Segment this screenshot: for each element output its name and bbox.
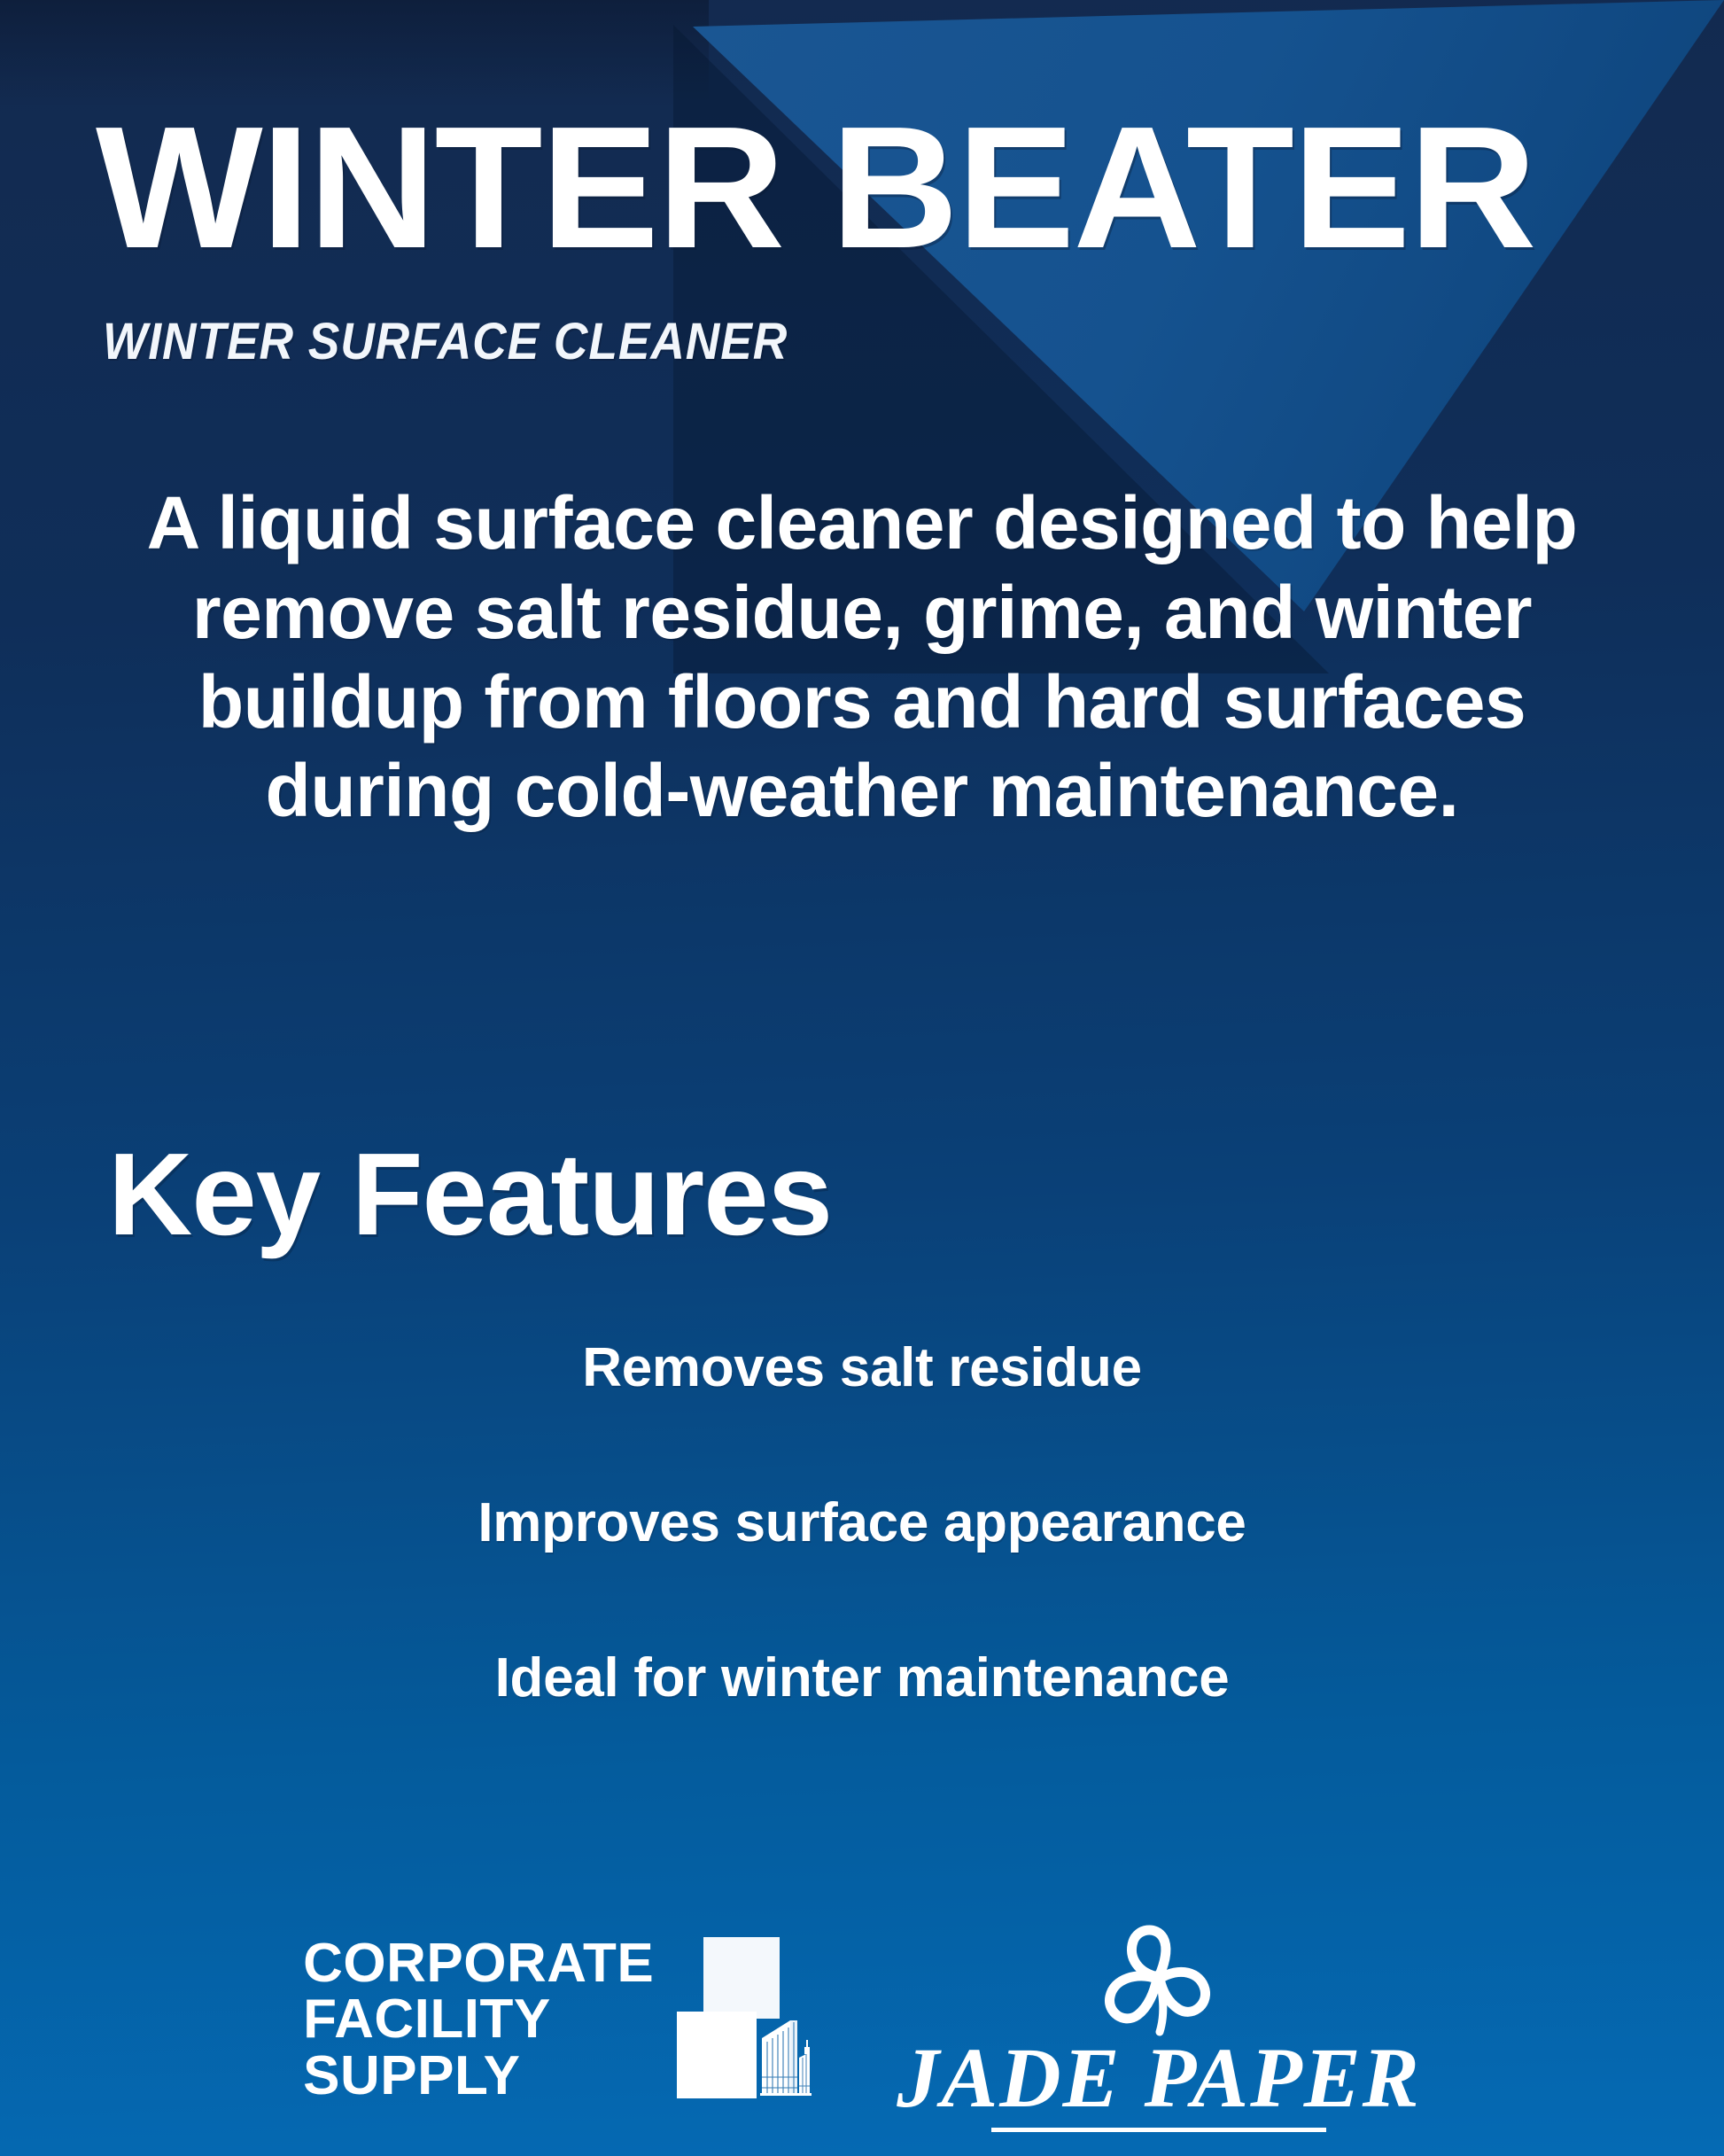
feature-item: Removes salt residue	[0, 1336, 1724, 1399]
jade-underline-rule	[991, 2128, 1326, 2132]
skyscraper-icon	[751, 2008, 819, 2100]
cfs-line-1: CORPORATE	[303, 1935, 654, 1991]
cfs-wordmark: CORPORATE FACILITY SUPPLY	[303, 1935, 654, 2104]
square-top-icon	[703, 1937, 780, 2019]
building-squares-icon	[677, 1935, 817, 2104]
square-bottom-icon	[677, 2012, 757, 2098]
cfs-line-2: FACILITY	[303, 1991, 654, 2047]
key-features-heading: Key Features	[108, 1127, 832, 1261]
feature-item: Ideal for winter maintenance	[0, 1646, 1724, 1709]
footer-logos: CORPORATE FACILITY SUPPLY	[0, 1883, 1724, 2156]
product-description: A liquid surface cleaner designed to hel…	[124, 479, 1600, 836]
shamrock-clover-icon	[1075, 1908, 1243, 2041]
jade-paper-logo: JADE PAPER	[897, 1908, 1421, 2132]
jade-paper-wordmark: JADE PAPER	[897, 2035, 1421, 2121]
corporate-facility-supply-logo: CORPORATE FACILITY SUPPLY	[303, 1935, 817, 2104]
product-title: WINTER BEATER	[96, 113, 1535, 263]
key-features-list: Removes salt residue Improves surface ap…	[0, 1336, 1724, 1802]
feature-item: Improves surface appearance	[0, 1491, 1724, 1554]
product-poster: WINTER BEATER WINTER SURFACE CLEANER A l…	[0, 0, 1724, 2156]
cfs-line-3: SUPPLY	[303, 2048, 654, 2104]
product-subtitle: WINTER SURFACE CLEANER	[103, 312, 788, 371]
